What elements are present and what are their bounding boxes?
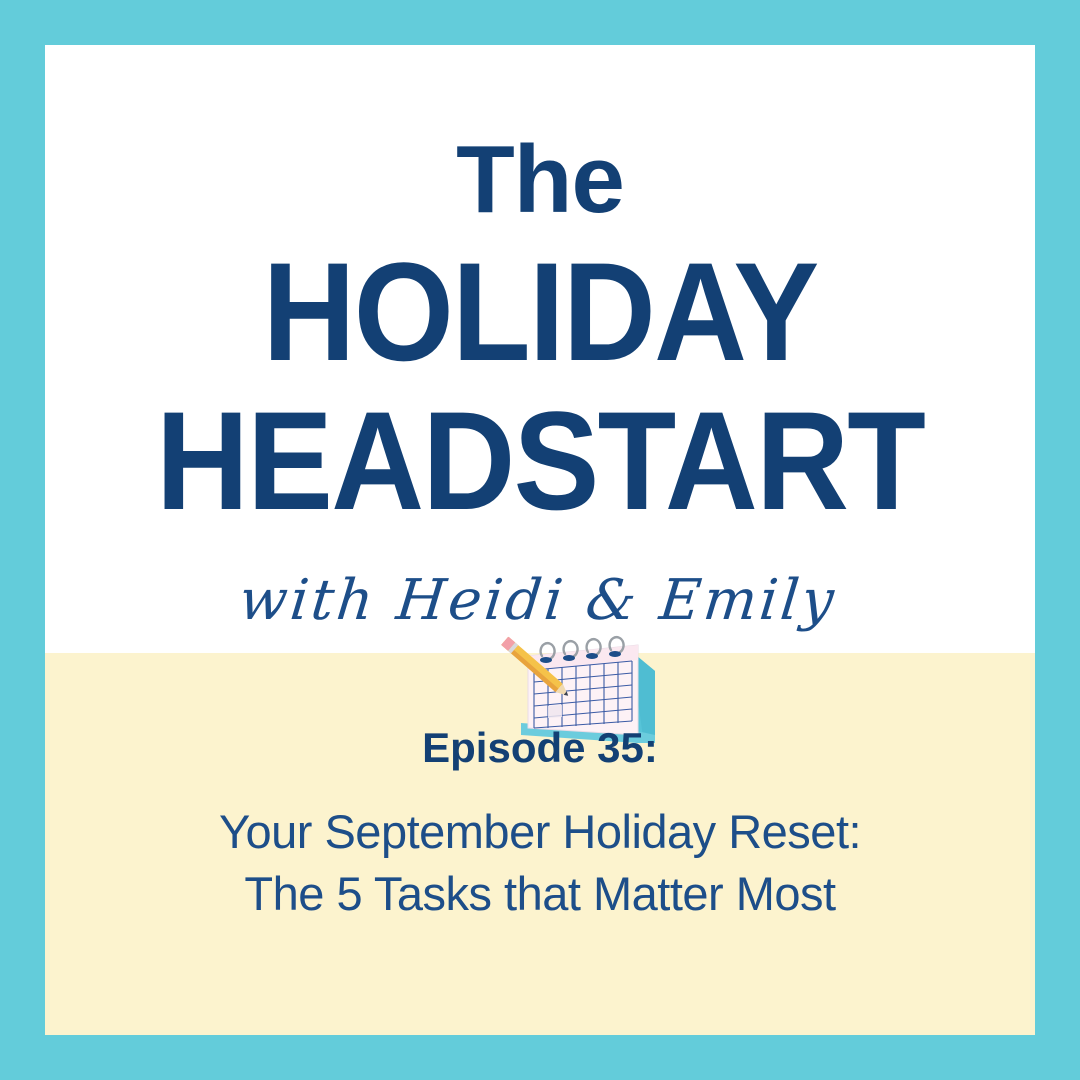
episode-number: Episode 35: [45, 725, 1035, 771]
title-line-the: The [45, 45, 1035, 227]
episode-title-line-2: The 5 Tasks that Matter Most [45, 863, 1035, 925]
title-line-holiday: HOLIDAY [85, 227, 996, 384]
episode-title: Your September Holiday Reset: The 5 Task… [45, 771, 1035, 925]
episode-title-line-1: Your September Holiday Reset: [45, 801, 1035, 863]
calendar-marked-cell [548, 705, 562, 718]
inner-card: The HOLIDAY HEADSTART with Heidi & Emily [45, 45, 1035, 1035]
title-line-headstart: HEADSTART [85, 384, 996, 533]
show-title-block: The HOLIDAY HEADSTART with Heidi & Emily [45, 45, 1035, 629]
podcast-cover-art: The HOLIDAY HEADSTART with Heidi & Emily [0, 0, 1080, 1080]
episode-block: Episode 35: Your September Holiday Reset… [45, 725, 1035, 925]
host-credit: with Heidi & Emily [45, 533, 1035, 629]
